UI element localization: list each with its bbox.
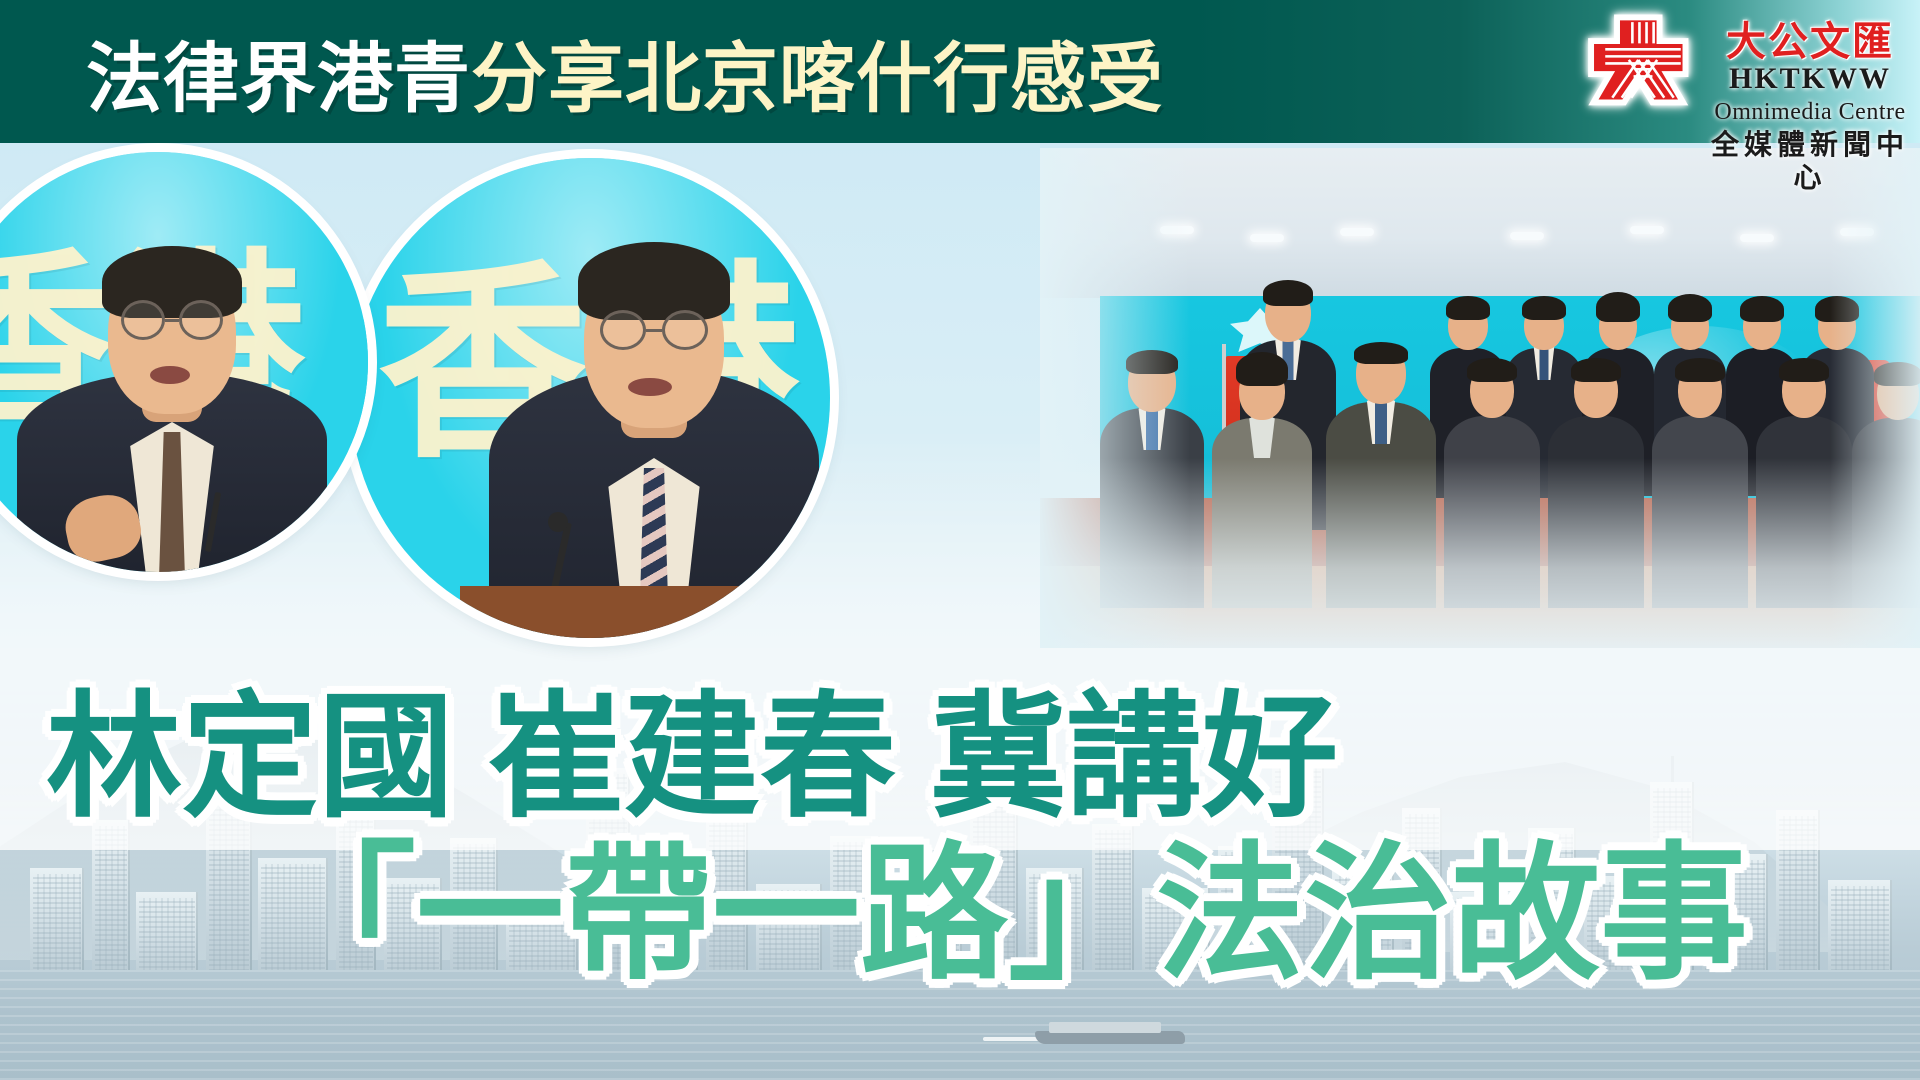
logo-chinese-name: 大公文匯: [1706, 22, 1914, 62]
hktkww-cross-mark-icon: [1584, 8, 1702, 126]
headline-block: 林定國崔建春冀講好 「一帶一路」法治故事: [0, 690, 1920, 988]
ferry-boat: [1035, 1018, 1185, 1044]
poster-canvas: 香港 香港: [0, 0, 1920, 1080]
portrait-photo-paul-lam: 香港: [0, 152, 368, 572]
hktkww-logo[interactable]: 大公文匯 HKTKWW Omnimedia Centre 全媒體新聞中心: [1584, 2, 1914, 172]
headline-name-lam: 林定國: [46, 679, 454, 837]
headline-verb: 冀講好: [930, 679, 1338, 837]
banner-kicker-plain: 法律界港青: [86, 17, 471, 127]
headline-name-cui: 崔建春: [488, 679, 896, 837]
logo-english-subtitle: Omnimedia Centre: [1706, 97, 1914, 128]
logo-chinese-subtitle: 全媒體新聞中心: [1706, 128, 1914, 195]
headline-line-1: 林定國崔建春冀講好: [0, 690, 1920, 826]
logo-english-abbr: HKTKWW: [1706, 62, 1914, 97]
banner-kicker: 法律界港青分享北京喀什行感受: [86, 22, 1164, 122]
portrait-photo-cui-jianchun: 香港: [350, 158, 830, 638]
banner-kicker-accent: 分享北京喀什行感受: [471, 17, 1164, 127]
group-delegation-photo: [1040, 148, 1920, 648]
headline-line-2: 「一帶一路」法治故事: [0, 840, 1920, 988]
